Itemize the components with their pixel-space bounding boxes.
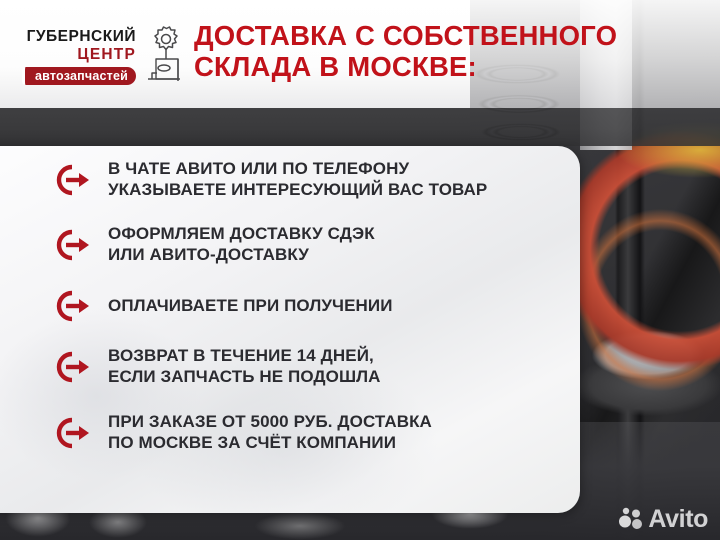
list-item: В ЧАТЕ АВИТО ИЛИ ПО ТЕЛЕФОНУ УКАЗЫВАЕТЕ … (52, 152, 572, 208)
list-item-label: ПРИ ЗАКАЗЕ ОТ 5000 РУБ. ДОСТАВКА ПО МОСК… (108, 412, 432, 453)
logo-wordmark: ГУБЕРНСКИЙ ЦЕНТР автозапчастей (22, 29, 136, 86)
delivery-steps-list: В ЧАТЕ АВИТО ИЛИ ПО ТЕЛЕФОНУ УКАЗЫВАЕТЕ … (52, 152, 572, 470)
logo-line-1: ГУБЕРНСКИЙ (22, 29, 136, 45)
list-item-label: В ЧАТЕ АВИТО ИЛИ ПО ТЕЛЕФОНУ УКАЗЫВАЕТЕ … (108, 159, 487, 200)
logo-line-2: ЦЕНТР (22, 47, 136, 63)
list-item: ОФОРМЛЯЕМ ДОСТАВКУ СДЭК ИЛИ АВИТО-ДОСТАВ… (52, 216, 572, 274)
page-title: ДОСТАВКА С СОБСТВЕННОГО СКЛАДА В МОСКВЕ: (194, 20, 714, 83)
circular-arrow-right-icon (52, 289, 92, 323)
list-item: ПРИ ЗАКАЗЕ ОТ 5000 РУБ. ДОСТАВКА ПО МОСК… (52, 404, 572, 462)
circular-arrow-right-icon (52, 163, 92, 197)
company-logo: ГУБЕРНСКИЙ ЦЕНТР автозапчастей (22, 22, 184, 92)
avito-dots-logo-icon (618, 506, 644, 532)
circular-arrow-right-icon (52, 350, 92, 384)
circular-arrow-right-icon (52, 416, 92, 450)
list-item-label: ОПЛАЧИВАЕТЕ ПРИ ПОЛУЧЕНИИ (108, 296, 393, 317)
list-item: ВОЗВРАТ В ТЕЧЕНИЕ 14 ДНЕЙ, ЕСЛИ ЗАПЧАСТЬ… (52, 338, 572, 396)
list-item-label: ОФОРМЛЯЕМ ДОСТАВКУ СДЭК ИЛИ АВИТО-ДОСТАВ… (108, 224, 375, 265)
list-item-label: ВОЗВРАТ В ТЕЧЕНИЕ 14 ДНЕЙ, ЕСЛИ ЗАПЧАСТЬ… (108, 346, 381, 387)
avito-watermark: Avito (618, 506, 708, 532)
circular-arrow-right-icon (52, 228, 92, 262)
page-title-line-1: ДОСТАВКА С СОБСТВЕННОГО (194, 20, 714, 51)
page-title-line-2: СКЛАДА В МОСКВЕ: (194, 51, 714, 82)
list-item: ОПЛАЧИВАЕТЕ ПРИ ПОЛУЧЕНИИ (52, 282, 572, 330)
promo-banner: ГУБЕРНСКИЙ ЦЕНТР автозапчастей ДОСТАВКА (0, 0, 720, 540)
car-jack-gear-icon (140, 26, 184, 88)
logo-badge: автозапчастей (22, 67, 136, 86)
avito-label: Avito (648, 507, 708, 532)
